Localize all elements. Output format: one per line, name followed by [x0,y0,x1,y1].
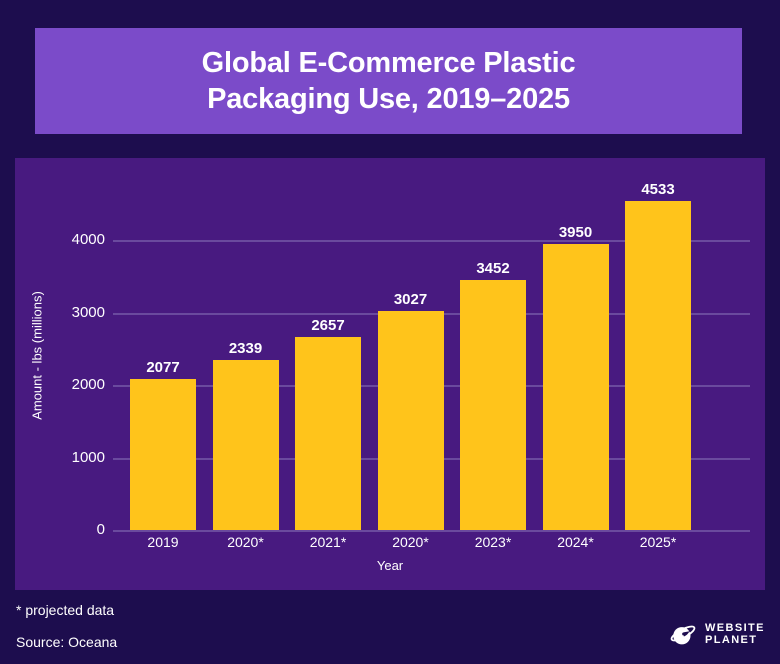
bar-value-label: 2077 [118,359,208,376]
page-title: Global E-Commerce Plastic Packaging Use,… [202,45,576,118]
bar-value-label: 2339 [201,340,291,357]
x-axis-tick-label: 2025* [613,534,703,550]
source-note: Source: Oceana [16,634,117,650]
bar [460,280,526,530]
bar-value-label: 3950 [531,224,621,241]
bar-value-label: 3027 [366,291,456,308]
y-axis-title: Amount - lbs (millions) [30,226,45,486]
logo-wordmark: WEBSITE PLANET [705,623,765,646]
bar [213,360,279,530]
bar [543,244,609,530]
bar-value-label: 3452 [448,260,538,277]
infographic-page: Global E-Commerce Plastic Packaging Use,… [0,0,780,664]
website-planet-logo: WEBSITE PLANET [668,620,765,650]
gridline [113,530,750,532]
bar [130,379,196,530]
footnote: * projected data [16,602,114,618]
bar [295,337,361,530]
x-axis-title: Year [15,558,765,573]
bar [625,201,691,530]
bar-value-label: 2657 [283,317,373,334]
bar [378,311,444,530]
x-axis-tick-label: 2020* [366,534,456,550]
bar-value-label: 4533 [613,181,703,198]
chart-panel: 01000200030004000 Amount - lbs (millions… [15,158,765,590]
title-banner: Global E-Commerce Plastic Packaging Use,… [35,28,742,134]
x-axis-tick-label: 2020* [201,534,291,550]
planet-icon [668,620,698,650]
x-axis-tick-label: 2019 [118,534,208,550]
logo-line-2: PLANET [705,635,765,647]
x-axis-tick-label: 2024* [531,534,621,550]
y-axis-tick-label: 0 [31,521,105,538]
bar-chart-plot: 01000200030004000 Amount - lbs (millions… [15,158,765,590]
x-axis-tick-label: 2023* [448,534,538,550]
x-axis-tick-label: 2021* [283,534,373,550]
